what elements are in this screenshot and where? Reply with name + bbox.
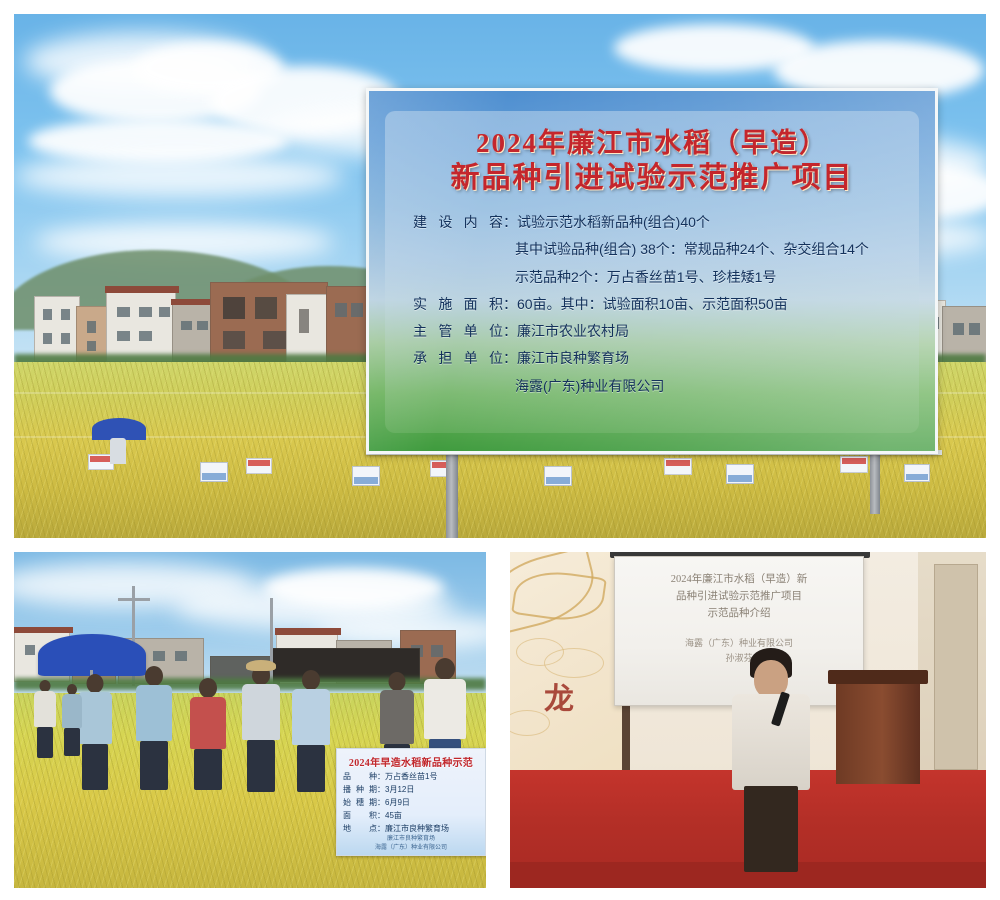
plot-marker-sign	[246, 458, 272, 474]
photo-collage: 2024年廉江市水稻（早造） 新品种引进试验示范推广项目 建设内容 ： 试验示范…	[0, 0, 1000, 900]
speaker	[732, 648, 810, 872]
plot-marker-sign	[544, 466, 572, 486]
demonstration-plot-sign: 2024年早造水稻新品种示范 品种 ： 万占香丝苗1号 播种期 ： 3月12日 …	[336, 748, 486, 856]
banner-row-value: 廉江市农业农村局	[517, 318, 915, 345]
field-sign-key: 始穗期	[343, 797, 377, 810]
banner-row-label: 主管单位	[413, 318, 503, 345]
field-sign-title: 2024年早造水稻新品种示范	[341, 754, 481, 769]
banner-row-colon	[503, 236, 515, 263]
field-sign-footer-line-2: 海露（广东）种业有限公司	[337, 844, 485, 853]
banner-row: 建设内容 示范品种2个：万占香丝苗1号、珍桂矮1号	[413, 264, 915, 291]
field-sign-value: 45亩	[385, 810, 402, 823]
person	[34, 680, 56, 758]
banner-row-label: 建设内容	[413, 209, 503, 236]
field-sign-colon: ：	[377, 771, 385, 784]
field-sign-key: 品种	[343, 771, 377, 784]
field-sign-colon: ：	[377, 823, 385, 836]
field-sign-value: 6月9日	[385, 797, 410, 810]
field-sign-footer-line-1: 廉江市良种繁育场	[337, 835, 485, 844]
banner-row: 建设内容 ： 试验示范水稻新品种(组合)40个	[413, 209, 915, 236]
plot-marker-sign	[664, 458, 692, 475]
banner-row: 承担单位 海露(广东)种业有限公司	[413, 373, 915, 400]
banner-post	[446, 450, 458, 538]
building	[34, 296, 80, 362]
field-sign-row: 面积 ： 45亩	[343, 810, 479, 823]
banner-row-value: 试验示范水稻新品种(组合)40个	[517, 209, 915, 236]
screen-title: 2024年廉江市水稻（早造）新 品种引进试验示范推广项目 示范品种介绍	[615, 557, 863, 622]
banner-row-value: 其中试验品种(组合) 38个：常规品种24个、杂交组合14个	[515, 236, 915, 263]
person	[242, 664, 280, 792]
screen-title-line-1: 2024年廉江市水稻（早造）新	[629, 571, 849, 588]
plot-marker-sign	[352, 466, 380, 486]
field-sign-key: 地点	[343, 823, 377, 836]
cloud	[14, 154, 344, 198]
field-sign-footer: 廉江市良种繁育场 海露（广东）种业有限公司	[337, 835, 485, 853]
field-inspection-photo: 2024年早造水稻新品种示范 品种 ： 万占香丝苗1号 播种期 ： 3月12日 …	[14, 552, 486, 888]
person	[110, 438, 126, 464]
banner-title-line-1: 2024年廉江市水稻（早造）	[369, 127, 935, 160]
speaker-trousers	[744, 786, 797, 872]
field-sign-value: 3月12日	[385, 784, 414, 797]
field-sign-row: 始穗期 ： 6月9日	[343, 797, 479, 810]
plot-marker-sign	[726, 464, 754, 484]
person	[190, 678, 226, 790]
door	[934, 564, 978, 770]
project-banner: 2024年廉江市水稻（早造） 新品种引进试验示范推广项目 建设内容 ： 试验示范…	[366, 88, 938, 454]
banner-row-colon: ：	[503, 345, 517, 372]
plot-marker-sign	[904, 464, 930, 482]
podium	[836, 678, 920, 784]
indoor-presentation-photo: 龙 2024年廉江市水稻（早造）新 品种引进试验示范推广项目 示范品种介绍 海露…	[510, 552, 986, 888]
cloud	[264, 568, 444, 608]
screen-title-line-3: 示范品种介绍	[629, 605, 849, 622]
screen-title-line-2: 品种引进试验示范推广项目	[629, 588, 849, 605]
field-sign-key: 面积	[343, 810, 377, 823]
banner-row-colon: ：	[503, 209, 517, 236]
field-sign-value: 万占香丝苗1号	[385, 771, 437, 784]
plot-marker-sign	[200, 462, 228, 482]
field-sign-colon: ：	[377, 810, 385, 823]
banner-row: 主管单位 ： 廉江市农业农村局	[413, 318, 915, 345]
umbrella	[92, 418, 146, 440]
person	[136, 666, 172, 790]
field-sign-value: 廉江市良种繁育场	[385, 823, 449, 836]
banner-row-value: 海露(广东)种业有限公司	[515, 373, 915, 400]
banner-row-value: 示范品种2个：万占香丝苗1号、珍桂矮1号	[515, 264, 915, 291]
field-sign-row: 播种期 ： 3月12日	[343, 784, 479, 797]
speaker-shirt	[732, 694, 810, 790]
building	[172, 302, 214, 362]
building	[106, 290, 176, 362]
banner-title-line-2: 新品种引进试验示范推广项目	[369, 161, 935, 196]
pole-crossbar	[118, 598, 150, 601]
banner-row: 建设内容 其中试验品种(组合) 38个：常规品种24个、杂交组合14个	[413, 236, 915, 263]
wall-mural: 龙	[510, 552, 630, 782]
banner-row-colon: ：	[503, 318, 517, 345]
field-sign-colon: ：	[377, 784, 385, 797]
banner-row-label: 实施面积	[413, 291, 503, 318]
calligraphy-character: 龙	[544, 674, 574, 718]
banner-row-label: 承担单位	[413, 345, 503, 372]
podium-top	[828, 670, 928, 684]
field-sign-row: 品种 ： 万占香丝苗1号	[343, 771, 479, 784]
field-sign-row: 地点 ： 廉江市良种繁育场	[343, 823, 479, 836]
banner-row-value: 廉江市良种繁育场	[517, 345, 915, 372]
building	[326, 286, 368, 364]
field-sign-rows: 品种 ： 万占香丝苗1号 播种期 ： 3月12日 始穗期 ： 6月9日 面积 ：	[343, 771, 479, 836]
plot-marker-sign	[840, 456, 868, 473]
banner-row: 实施面积 ： 60亩。其中：试验面积10亩、示范面积50亩	[413, 291, 915, 318]
person	[62, 684, 82, 756]
field-sign-colon: ：	[377, 797, 385, 810]
person	[292, 670, 330, 792]
person	[78, 674, 112, 790]
field-banner-photo: 2024年廉江市水稻（早造） 新品种引进试验示范推广项目 建设内容 ： 试验示范…	[14, 14, 986, 538]
banner-row: 承担单位 ： 廉江市良种繁育场	[413, 345, 915, 372]
building	[286, 294, 328, 362]
banner-body: 建设内容 ： 试验示范水稻新品种(组合)40个 建设内容 其中试验品种(组合) …	[413, 209, 915, 400]
banner-row-colon: ：	[503, 291, 517, 318]
banner-row-colon	[503, 264, 515, 291]
banner-row-colon	[503, 373, 515, 400]
field-sign-key: 播种期	[343, 784, 377, 797]
banner-row-value: 60亩。其中：试验面积10亩、示范面积50亩	[517, 291, 915, 318]
